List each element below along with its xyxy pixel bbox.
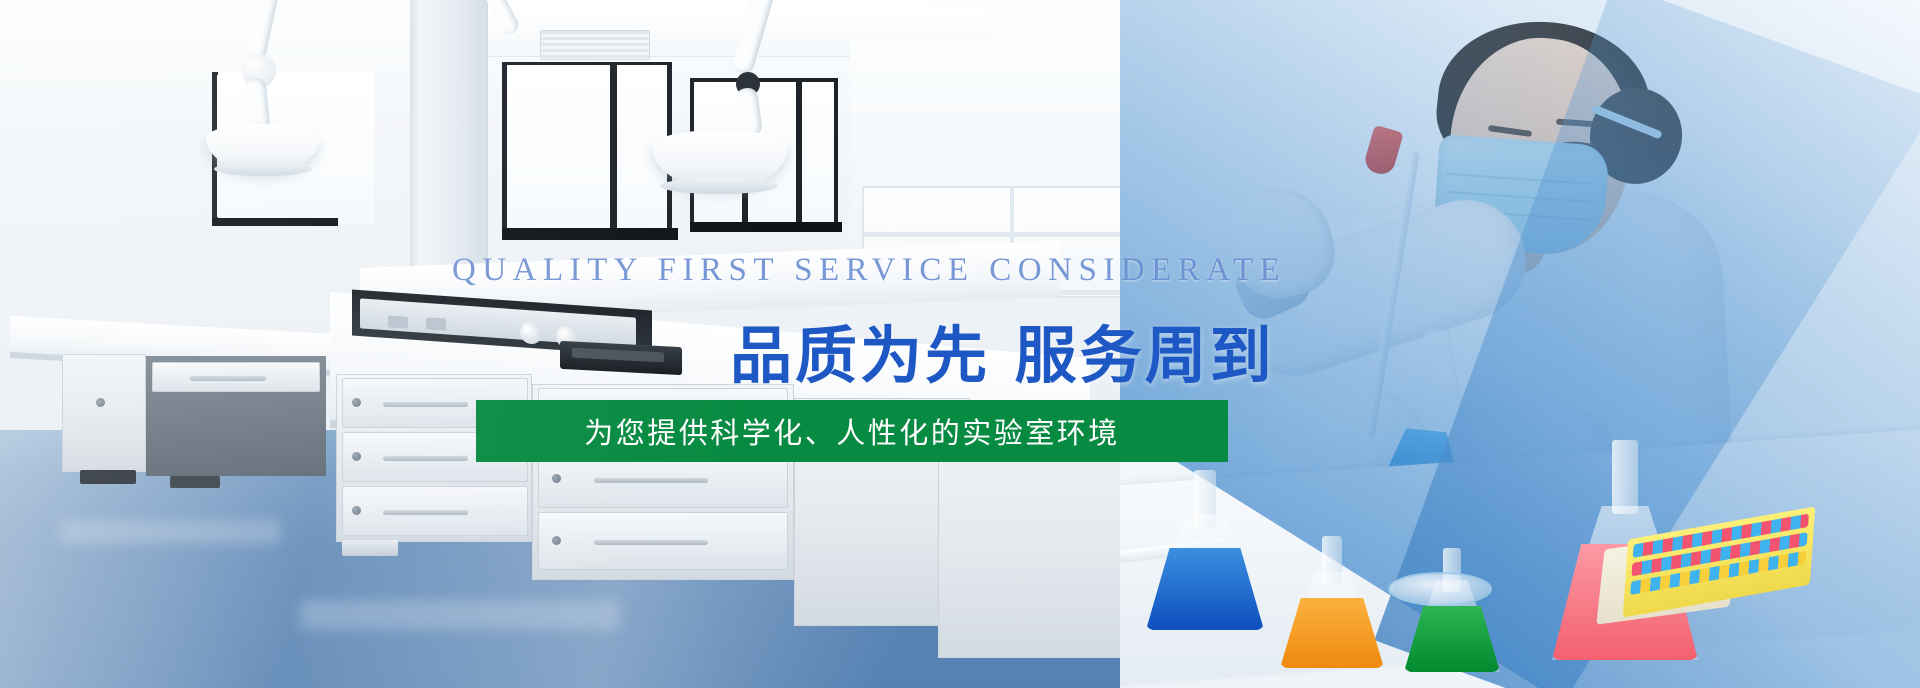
laboratory-hero-banner: QUALITY FIRST SERVICE CONSIDERATE 品质为先 服… xyxy=(0,0,1920,688)
cabinet-lock-icon xyxy=(552,474,561,483)
window-mullion xyxy=(796,78,802,228)
pendant-lamp-lip xyxy=(214,162,312,176)
cabinet-foot xyxy=(170,476,220,488)
lab-window xyxy=(502,62,672,240)
green-flask xyxy=(1404,548,1500,672)
headline-chinese: 品质为先 服务周到 xyxy=(730,305,1275,395)
service-knob xyxy=(520,321,542,345)
service-outlet xyxy=(388,315,408,328)
flask-liquid xyxy=(1404,606,1500,672)
cabinet-foot xyxy=(80,470,136,484)
cabinet-lock-icon xyxy=(352,452,361,461)
cabinet-lock-icon xyxy=(96,398,105,407)
ceiling-vent-icon xyxy=(540,30,650,60)
cabinet-lock-icon xyxy=(552,536,561,545)
window-mullion xyxy=(610,62,617,240)
blue-flask xyxy=(1146,470,1264,630)
cabinet-lock-icon xyxy=(352,506,361,515)
lab-cabinet xyxy=(62,354,146,472)
petri-dish xyxy=(1388,572,1492,606)
flask-neck xyxy=(1612,440,1638,514)
floor-reflection xyxy=(300,600,620,630)
subtitle-chinese: 为您提供科学化、人性化的实验室环境 xyxy=(476,400,1228,462)
service-outlet xyxy=(426,317,446,330)
window-sill xyxy=(212,218,338,226)
orange-flask xyxy=(1280,536,1384,668)
cabinet-drawer xyxy=(152,362,320,392)
headline-english: QUALITY FIRST SERVICE CONSIDERATE xyxy=(452,252,1286,289)
flask-liquid xyxy=(1280,598,1384,668)
column-shadow xyxy=(410,0,420,300)
cabinet-drawer xyxy=(538,512,788,570)
cabinet-drawer xyxy=(342,486,528,536)
flask-liquid xyxy=(1146,548,1264,630)
pendant-lamp-lip xyxy=(660,178,778,194)
cabinet-lock-icon xyxy=(352,398,361,407)
shelf-bar xyxy=(862,232,1152,237)
cabinet-foot xyxy=(342,540,398,556)
floor-reflection xyxy=(60,520,280,544)
window-sill xyxy=(502,228,678,240)
window-sill xyxy=(690,222,842,232)
